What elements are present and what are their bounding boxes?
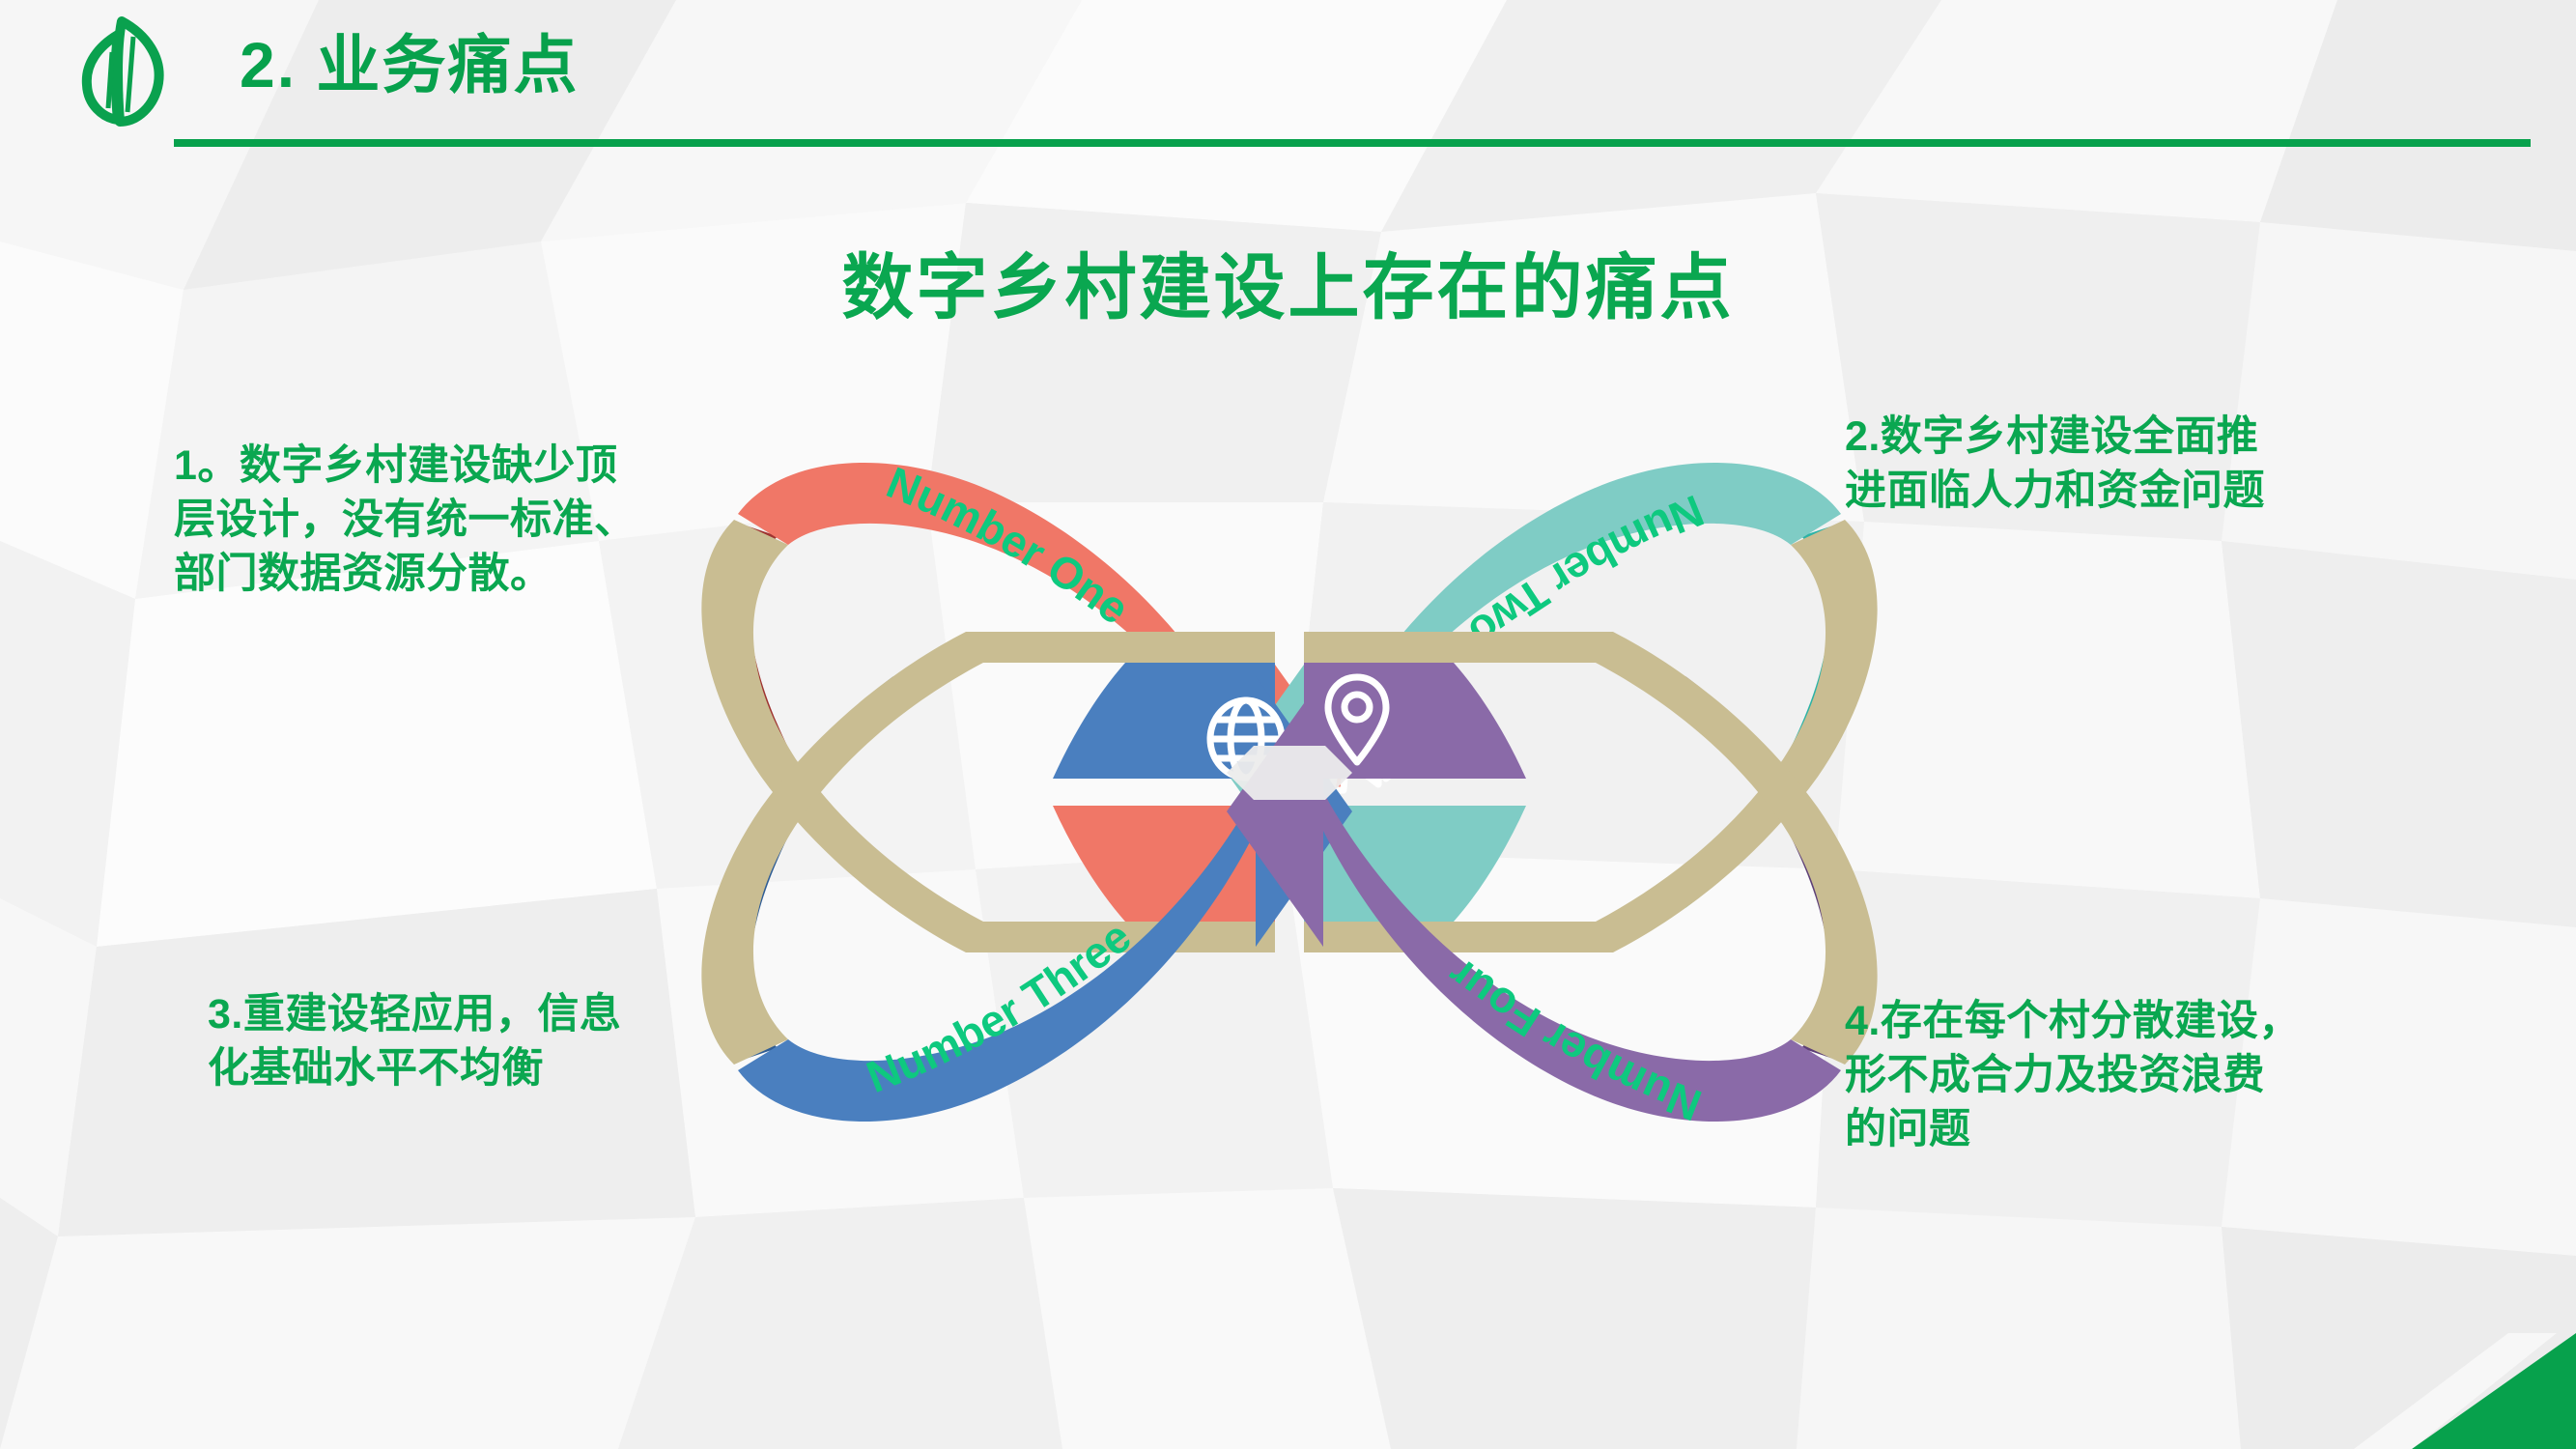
callout-line: 层设计，没有统一标准、 — [174, 494, 715, 548]
callout-line: 1。数字乡村建设缺少顶 — [174, 440, 715, 494]
four-arrow-butterfly-diagram: Number One Number Two — [676, 406, 1903, 1179]
corner-triangle-accent — [2315, 1333, 2576, 1449]
callout-text-two: 2.数字乡村建设全面推 进面临人力和资金问题 — [1845, 411, 2405, 519]
callout-line: 进面临人力和资金问题 — [1845, 465, 2405, 519]
arrow-one-label: Number One — [880, 457, 1139, 634]
callout-line: 部门数据资源分散。 — [174, 548, 715, 602]
two-leaf-logo-icon — [58, 8, 184, 133]
callout-line: 的问题 — [1845, 1103, 2405, 1157]
main-heading: 数字乡村建设上存在的痛点 — [0, 230, 2576, 333]
callout-text-one: 1。数字乡村建设缺少顶 层设计，没有统一标准、 部门数据资源分散。 — [174, 440, 715, 602]
callout-text-four: 4.存在每个村分散建设， 形不成合力及投资浪费 的问题 — [1845, 995, 2405, 1157]
callout-line: 4.存在每个村分散建设， — [1845, 995, 2405, 1049]
callout-line: 形不成合力及投资浪费 — [1845, 1049, 2405, 1103]
page-title: 2. 业务痛点 — [240, 14, 579, 106]
callout-line: 化基础水平不均衡 — [208, 1042, 749, 1096]
slide-header: 2. 业务痛点 — [0, 0, 2576, 155]
callout-line: 2.数字乡村建设全面推 — [1845, 411, 2405, 465]
arrow-four-label: Number Four — [1438, 949, 1709, 1131]
header-divider — [174, 139, 2531, 147]
callout-text-three: 3.重建设轻应用，信息 化基础水平不均衡 — [208, 988, 749, 1096]
callout-line: 3.重建设轻应用，信息 — [208, 988, 749, 1042]
